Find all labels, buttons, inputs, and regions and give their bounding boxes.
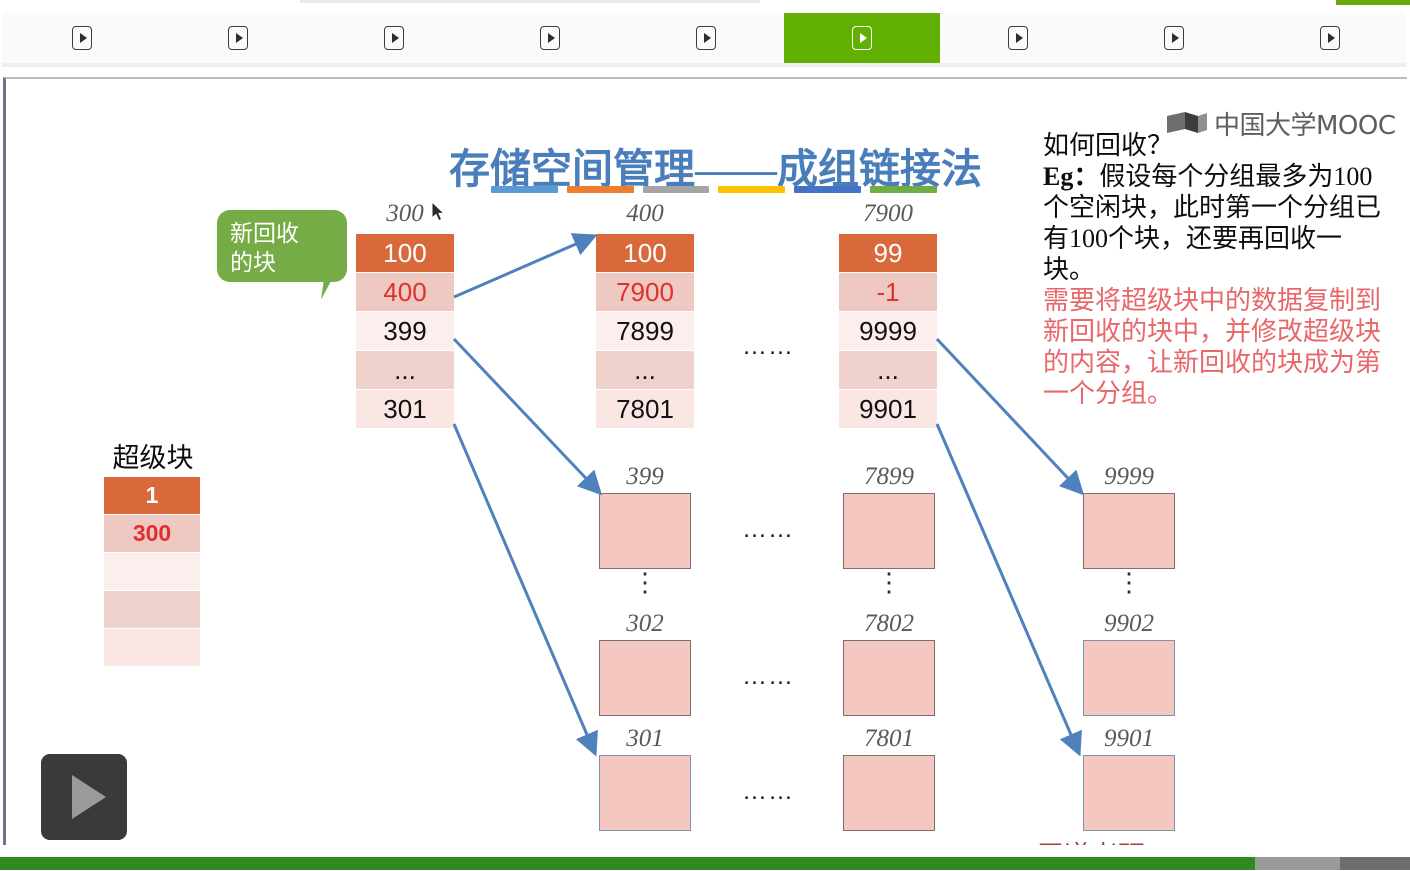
group-400-cell-3: ... xyxy=(596,351,694,389)
watermark: 王道考研/CSKAOYAN.COM xyxy=(1037,834,1371,845)
group-column-400: 400 100 7900 7899 ... 7801 xyxy=(596,234,694,429)
data-block-399: 399 xyxy=(599,493,691,569)
play-icon xyxy=(72,26,92,50)
data-block-301: 301 xyxy=(599,755,691,831)
group-header-300: 300 xyxy=(356,200,454,228)
superblock-cell-1: 300 xyxy=(104,515,200,552)
group-400-cell-4: 7801 xyxy=(596,390,694,428)
group-7900-cell-3: ... xyxy=(839,351,937,389)
top-green-indicator xyxy=(1336,0,1410,5)
data-block-399-label: 399 xyxy=(599,463,691,491)
play-icon xyxy=(852,26,872,50)
tab-strip-underline xyxy=(2,63,1406,67)
vertical-ellipsis-col3: ⋮ xyxy=(1083,579,1175,586)
chapter-tab-2[interactable] xyxy=(160,13,316,63)
vertical-ellipsis-col1: ⋮ xyxy=(599,579,691,586)
group-300-cell-0: 100 xyxy=(356,234,454,272)
data-block-7801: 7801 xyxy=(843,755,935,831)
group-column-300: 300 100 400 399 ... 301 xyxy=(356,234,454,429)
chapter-tab-1[interactable] xyxy=(4,13,160,63)
data-block-7801-label: 7801 xyxy=(843,725,935,753)
arrow-399-to-block399 xyxy=(454,339,598,491)
chapter-tab-7[interactable] xyxy=(940,13,1096,63)
data-block-9901-label: 9901 xyxy=(1083,725,1175,753)
data-block-9901-box xyxy=(1083,755,1175,831)
superblock-label: 超级块 xyxy=(103,436,203,475)
group-7900-cell-2: 9999 xyxy=(839,312,937,350)
ellipsis-row-3-left: …… xyxy=(742,777,794,806)
superblock-cell-3 xyxy=(104,591,200,628)
data-block-399-box xyxy=(599,493,691,569)
arrow-301-to-block301 xyxy=(454,424,594,751)
vertical-ellipsis-col2: ⋮ xyxy=(843,579,935,586)
data-block-9902-box xyxy=(1083,640,1175,716)
slide-canvas[interactable]: 存储空间管理——成组链接法 新回收 的块 中国大学MOOC 如何回收？ Eg：假… xyxy=(3,77,1407,845)
data-block-7802-label: 7802 xyxy=(843,610,935,638)
chapter-tab-strip xyxy=(2,13,1406,63)
group-400-cell-2: 7899 xyxy=(596,312,694,350)
ellipsis-groups: …… xyxy=(742,332,794,361)
chapter-tab-9[interactable] xyxy=(1252,13,1408,63)
top-divider-line xyxy=(300,0,760,3)
data-block-7802: 7802 xyxy=(843,640,935,716)
superblock-cell-0: 1 xyxy=(104,477,200,514)
video-progress-fill xyxy=(0,857,1255,870)
group-400-cell-0: 100 xyxy=(596,234,694,272)
explanation-eg-label: Eg： xyxy=(1043,162,1099,191)
data-block-7899-box xyxy=(843,493,935,569)
data-block-301-box xyxy=(599,755,691,831)
video-play-button[interactable] xyxy=(41,754,127,840)
play-icon xyxy=(540,26,560,50)
data-block-7801-box xyxy=(843,755,935,831)
data-block-9999-label: 9999 xyxy=(1083,463,1175,491)
play-icon xyxy=(384,26,404,50)
data-block-9999-box xyxy=(1083,493,1175,569)
data-block-7899-label: 7899 xyxy=(843,463,935,491)
group-7900-cell-0: 99 xyxy=(839,234,937,272)
chapter-tab-5[interactable] xyxy=(628,13,784,63)
chapter-tab-6[interactable] xyxy=(784,13,940,63)
group-300-cell-3: ... xyxy=(356,351,454,389)
group-header-7900: 7900 xyxy=(839,200,937,228)
group-300-cell-4: 301 xyxy=(356,390,454,428)
play-icon xyxy=(1008,26,1028,50)
data-block-302-box xyxy=(599,640,691,716)
superblock-cell-2 xyxy=(104,553,200,590)
superblock-cell-4 xyxy=(104,629,200,666)
data-block-302: 302 xyxy=(599,640,691,716)
group-7900-cell-4: 9901 xyxy=(839,390,937,428)
explanation-text: 如何回收？ Eg：假设每个分组最多为100个空闲块，此时第一个分组已有100个块… xyxy=(1043,130,1393,409)
data-block-9902-label: 9902 xyxy=(1083,610,1175,638)
data-block-302-label: 302 xyxy=(599,610,691,638)
group-header-400: 400 xyxy=(596,200,694,228)
chapter-tab-8[interactable] xyxy=(1096,13,1252,63)
explanation-highlight: 需要将超级块中的数据复制到新回收的块中，并修改超级块的内容，让新回收的块成为第一… xyxy=(1043,285,1393,409)
play-icon xyxy=(228,26,248,50)
ellipsis-row-1-left: …… xyxy=(742,515,794,544)
video-progress-bar[interactable] xyxy=(0,857,1410,870)
chapter-tab-3[interactable] xyxy=(316,13,472,63)
group-400-cell-1: 7900 xyxy=(596,273,694,311)
callout-line-1: 新回收 xyxy=(230,219,347,248)
chapter-tab-4[interactable] xyxy=(472,13,628,63)
title-accent-bars xyxy=(491,186,937,193)
group-column-7900: 7900 99 -1 9999 ... 9901 xyxy=(839,234,937,429)
data-block-9999: 9999 xyxy=(1083,493,1175,569)
data-block-9901: 9901 xyxy=(1083,755,1175,831)
group-300-cell-2: 399 xyxy=(356,312,454,350)
arrow-9901-to-block9901 xyxy=(937,424,1078,751)
play-icon xyxy=(1320,26,1340,50)
explanation-question: 如何回收？ xyxy=(1043,130,1393,161)
play-icon xyxy=(696,26,716,50)
ellipsis-row-2-left: …… xyxy=(742,662,794,691)
data-block-9902: 9902 xyxy=(1083,640,1175,716)
arrow-400-to-group400 xyxy=(454,237,592,297)
group-7900-cell-1: -1 xyxy=(839,273,937,311)
play-icon xyxy=(1164,26,1184,50)
group-300-cell-1: 400 xyxy=(356,273,454,311)
data-block-301-label: 301 xyxy=(599,725,691,753)
superblock-table: 1 300 xyxy=(104,477,200,667)
data-block-7899: 7899 xyxy=(843,493,935,569)
data-block-7802-box xyxy=(843,640,935,716)
